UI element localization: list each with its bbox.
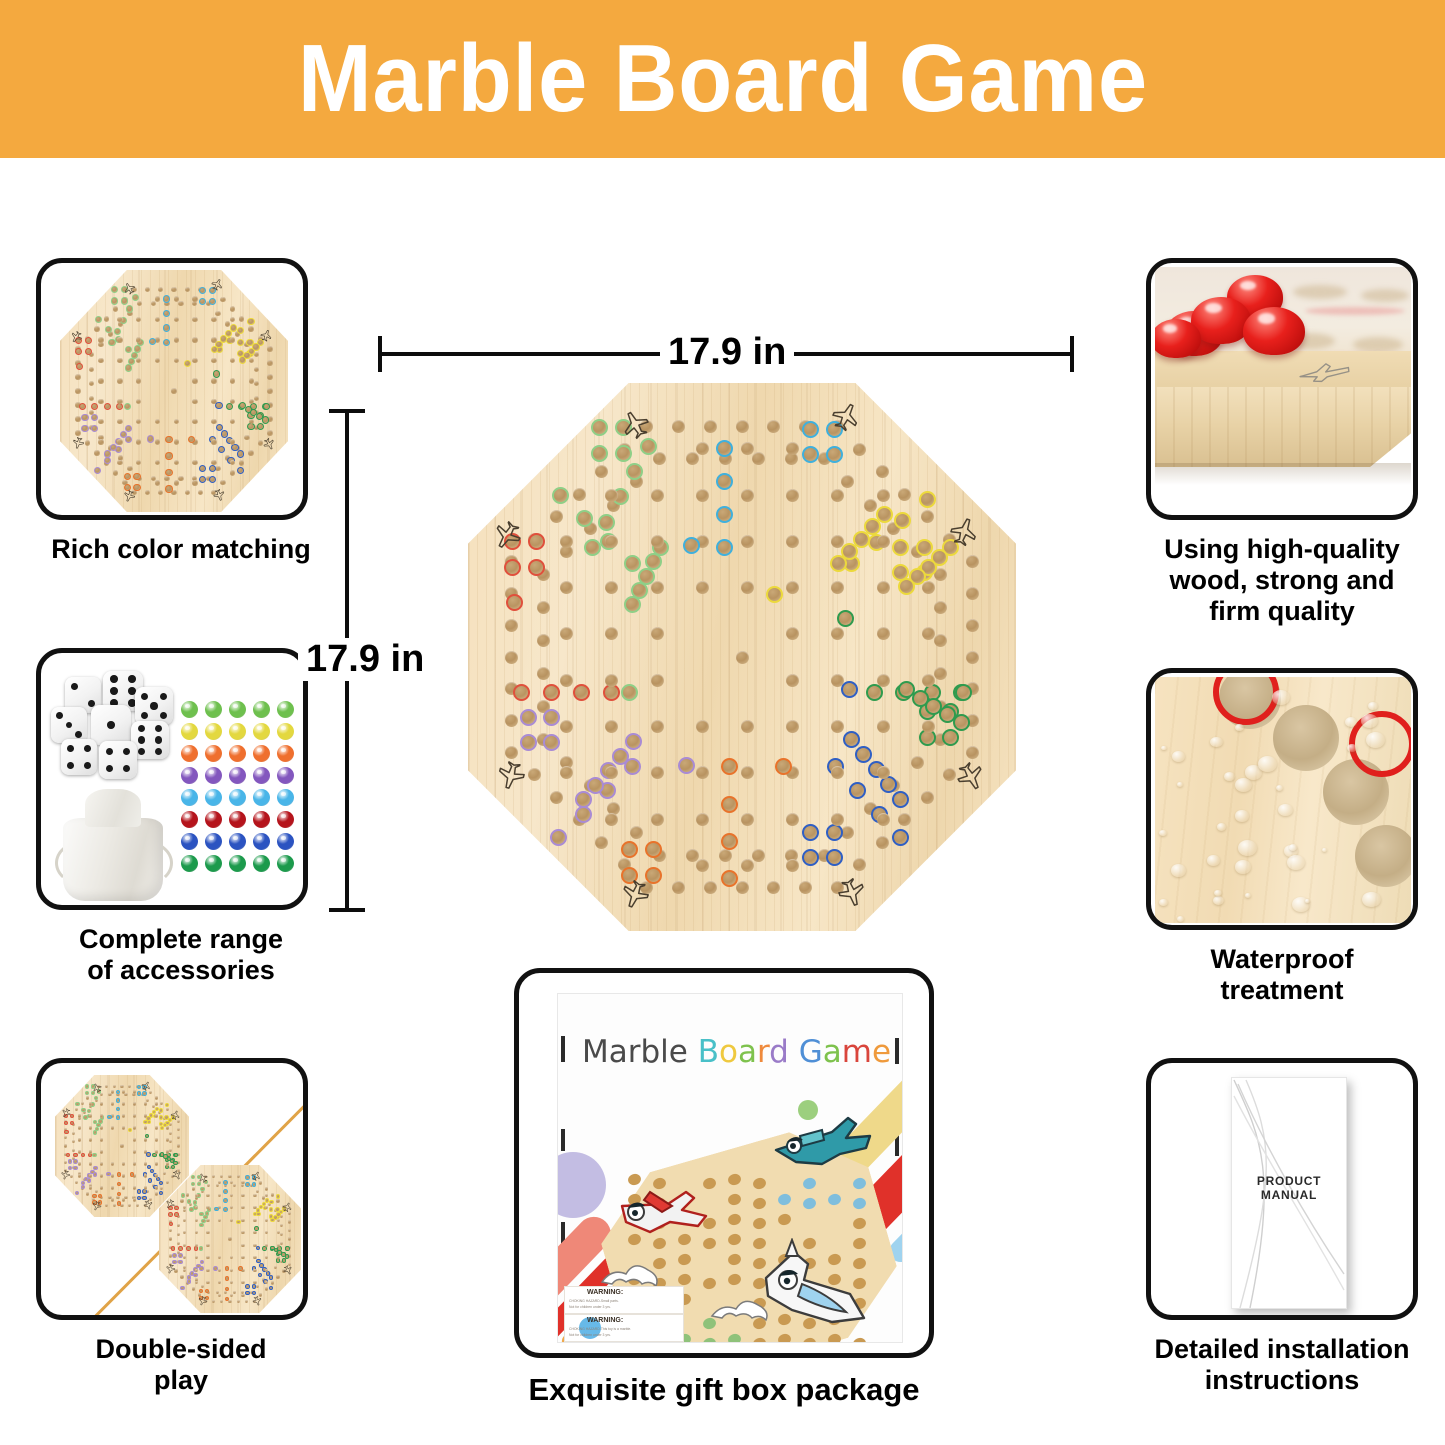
octagon-board-icon-back — [159, 1165, 301, 1313]
board-hole — [155, 419, 160, 424]
board-hole — [605, 535, 618, 548]
board-pit — [1355, 825, 1411, 887]
board-hole — [117, 317, 122, 322]
board-hole — [605, 813, 618, 826]
board-hole — [605, 581, 618, 594]
board-hole — [75, 416, 80, 421]
board-hole — [651, 535, 664, 548]
board-hole — [280, 1242, 283, 1245]
board-hole — [174, 480, 179, 485]
board-marble-hole-orange — [130, 1172, 134, 1176]
board-hole — [218, 1256, 221, 1259]
board-marble-hole-blue — [218, 446, 225, 453]
board-marble-hole-cyan — [107, 1115, 111, 1119]
board-hole — [898, 813, 911, 826]
board-hole — [224, 1291, 227, 1294]
airplane-icon — [261, 436, 278, 453]
water-droplets-icon — [1155, 677, 1411, 923]
board-marble-hole-blue — [841, 681, 858, 698]
board-hole — [207, 1184, 210, 1187]
marble — [181, 789, 198, 806]
board-hole — [113, 1204, 116, 1207]
marble — [229, 767, 246, 784]
board-hole — [177, 1128, 180, 1131]
board-hole — [831, 581, 844, 594]
board-hole — [133, 1150, 136, 1153]
airplane-icon — [283, 1265, 297, 1279]
board-hole — [133, 1102, 136, 1105]
board-marble-hole-light_green — [114, 328, 121, 335]
board-hole — [736, 651, 749, 664]
board-hole — [206, 1256, 209, 1259]
board-hole — [166, 1181, 169, 1184]
board-hole — [241, 1231, 244, 1234]
board-hole — [876, 836, 889, 849]
board-marble-hole-cyan — [223, 1198, 228, 1203]
board-hole — [212, 1300, 215, 1303]
board-hole — [595, 836, 608, 849]
board-hole — [89, 1186, 92, 1189]
board-hole — [267, 346, 272, 351]
feature-card-gift-box: Marble Board Game — [514, 968, 934, 1438]
board-hole — [922, 720, 935, 733]
board-hole — [233, 1291, 236, 1294]
board-hole — [94, 450, 99, 455]
board-marble-hole-yellow — [159, 1108, 163, 1112]
board-hole — [89, 1138, 92, 1141]
feature-card-double-sided: Double-sided play — [36, 1058, 326, 1438]
marble — [181, 811, 198, 828]
board-hole — [100, 1093, 103, 1096]
board-marble-hole-red — [76, 363, 83, 370]
board-marble-hole-cyan — [252, 1182, 257, 1187]
die-pip — [123, 748, 130, 755]
marble — [277, 833, 294, 850]
board-hole — [876, 465, 889, 478]
board-hole — [922, 674, 935, 687]
box-hinge-4 — [895, 1038, 899, 1064]
board-hole — [120, 1144, 123, 1147]
board-hole — [719, 849, 732, 862]
board-hole — [741, 489, 754, 502]
board-hole — [767, 420, 780, 433]
water-droplet — [1159, 899, 1168, 906]
board-hole — [241, 1194, 244, 1197]
board-marble-hole-dark_green — [285, 1246, 290, 1251]
wood-caption-line1: Using high-quality — [1146, 534, 1418, 565]
board-hole — [218, 1294, 221, 1297]
board-marble-hole-blue — [252, 1291, 257, 1296]
board-hole — [228, 1175, 231, 1178]
board-hole — [253, 1281, 256, 1284]
board-hole — [192, 1187, 195, 1190]
board-pit — [1273, 705, 1339, 771]
board-marble-hole-cyan — [116, 1090, 120, 1094]
board-marble-hole-orange — [165, 436, 172, 443]
board-hole — [228, 1237, 231, 1240]
board-hole — [122, 1090, 125, 1093]
board-marble-hole-cyan — [209, 298, 216, 305]
board-hole — [230, 460, 235, 465]
board-marble-hole-dark_green — [152, 1153, 156, 1157]
board-hole — [528, 768, 541, 781]
marble — [229, 701, 246, 718]
board-marble-hole-purple — [543, 709, 560, 726]
board-marble-hole-yellow — [898, 578, 915, 595]
board-hole — [136, 1204, 139, 1207]
board-marble-hole-blue — [269, 1275, 274, 1280]
dice-cluster — [47, 671, 175, 787]
board-hole — [741, 581, 754, 594]
board-hole — [111, 1090, 114, 1093]
board-marble-hole-dark_green — [262, 416, 269, 423]
airplane-icon — [252, 1296, 265, 1309]
board-hole — [230, 358, 235, 363]
board-hole — [195, 1281, 198, 1284]
marble — [229, 811, 246, 828]
board-hole — [651, 720, 664, 733]
board-marble-hole-orange — [133, 473, 140, 480]
board-marble-hole-cyan — [716, 506, 733, 523]
board-marble-hole-orange — [165, 469, 172, 476]
board-marble-hole-dark_green — [213, 370, 220, 377]
board-marble-hole-orange — [721, 758, 738, 775]
board-marble-hole-cyan — [149, 338, 156, 345]
rich-color-matching-image-frame — [36, 258, 308, 520]
board-hole — [195, 1194, 198, 1197]
board-marble-hole-blue — [892, 829, 909, 846]
board-hole — [89, 1126, 92, 1129]
board-hole — [100, 1114, 103, 1117]
board-hole — [160, 1102, 163, 1105]
board-marble-hole-purple — [543, 734, 560, 751]
board-marble-hole-purple — [104, 457, 111, 464]
board-hole — [288, 1220, 291, 1223]
board-hole — [75, 1181, 78, 1184]
board-hole — [505, 714, 518, 727]
board-hole — [169, 1132, 172, 1135]
board-marble-hole-dark_green — [837, 610, 854, 627]
board-marble-hole-blue — [826, 849, 843, 866]
board-hole — [211, 317, 216, 322]
board-hole — [265, 1194, 268, 1197]
board-hole — [85, 440, 90, 445]
board-hole — [104, 316, 109, 321]
board-hole — [274, 1266, 277, 1269]
board-hole — [117, 399, 122, 404]
board-marble-hole-blue — [843, 731, 860, 748]
box-hinge-2 — [561, 1129, 565, 1151]
board-marble-hole-purple — [575, 806, 592, 823]
board-hole — [144, 1126, 147, 1129]
board-marble-hole-red — [81, 1153, 85, 1157]
marble — [253, 833, 270, 850]
board-marble-hole-purple — [75, 1191, 79, 1195]
board-marble-hole-red — [504, 559, 521, 576]
airplane-icon — [950, 757, 991, 798]
board-hole — [206, 1231, 209, 1234]
board-hole — [253, 1269, 256, 1272]
board-hole — [64, 1136, 67, 1139]
board-hole — [100, 1150, 103, 1153]
marble — [253, 767, 270, 784]
board-hole — [206, 1281, 209, 1284]
board-hole — [831, 627, 844, 640]
board-marble-hole-purple — [147, 435, 154, 442]
board-hole — [133, 1114, 136, 1117]
board-hole — [174, 317, 179, 322]
board-hole — [75, 1108, 78, 1111]
board-hole — [86, 1192, 89, 1195]
board-hole — [271, 1193, 274, 1196]
pouch-neck — [85, 789, 141, 827]
board-marble-hole-light_green — [93, 1130, 97, 1134]
board-hole — [253, 1231, 256, 1234]
board-marble-hole-dark_green — [254, 1226, 259, 1231]
board-hole — [206, 1219, 209, 1222]
marble — [277, 855, 294, 872]
board-marble-hole-red — [73, 1153, 77, 1157]
board-hole — [155, 1114, 158, 1117]
accessories-image-frame — [36, 648, 308, 910]
board-marble-hole-red — [186, 1246, 191, 1251]
marble — [205, 745, 222, 762]
board-marble-hole-light_green — [621, 684, 638, 701]
board-hole — [133, 1126, 136, 1129]
board-hole — [276, 1199, 279, 1202]
board-hole — [133, 1138, 136, 1141]
board-hole — [831, 813, 844, 826]
double-sided-caption-line2: play — [36, 1365, 326, 1396]
board-marble-hole-purple — [187, 1279, 192, 1284]
board-hole — [241, 1244, 244, 1247]
board-hole — [192, 419, 197, 424]
board-hole — [605, 489, 618, 502]
board-marble-hole-light_green — [108, 339, 115, 346]
board-hole — [237, 1300, 240, 1303]
marble — [181, 833, 198, 850]
marble — [181, 745, 198, 762]
die-pip — [128, 675, 136, 683]
board-marble-hole-dark_green — [955, 684, 972, 701]
board-marble-hole-light_green — [124, 403, 131, 410]
board-marble-hole-yellow — [184, 360, 191, 367]
double-sided-image-frame — [36, 1058, 308, 1320]
marble — [205, 811, 222, 828]
board-marble-hole-cyan — [116, 1098, 120, 1102]
warning-label-1-line1: CHOKING HAZARD-Small parts. — [569, 1299, 619, 1303]
board-hole — [211, 378, 216, 383]
board-marble-hole-light_green — [95, 316, 102, 323]
board-hole — [786, 859, 799, 872]
board-hole — [233, 1184, 236, 1187]
marble — [205, 767, 222, 784]
board-hole — [78, 1138, 81, 1141]
board-hole — [78, 1150, 81, 1153]
water-droplet — [1322, 848, 1327, 852]
board-marble-hole-blue — [269, 1286, 274, 1291]
board-hole — [155, 296, 160, 301]
board-marble-hole-red — [116, 403, 123, 410]
board-marble-hole-purple — [125, 425, 132, 432]
board-marble-hole-orange — [165, 485, 172, 492]
board-marble-hole-light_green — [552, 487, 569, 504]
board-hole — [605, 720, 618, 733]
manual-caption-line1: Detailed installation — [1146, 1334, 1418, 1365]
board-marble-hole-red — [66, 1153, 70, 1157]
die-pip — [56, 712, 63, 719]
board-hole — [144, 1138, 147, 1141]
water-droplet — [1278, 804, 1293, 816]
die-pip — [66, 722, 73, 729]
board-hole — [831, 489, 844, 502]
board-hole — [145, 287, 150, 292]
board-hole — [218, 1194, 221, 1197]
board-hole — [100, 1126, 103, 1129]
board-marble-hole-blue — [159, 1181, 163, 1185]
water-droplet — [1287, 855, 1305, 870]
board-hole — [230, 337, 235, 342]
board-hole — [241, 1181, 244, 1184]
die-pip — [75, 731, 82, 738]
board-hole — [241, 1281, 244, 1284]
marble-grid — [181, 701, 303, 881]
board-hole — [254, 381, 259, 386]
board-marble-hole-cyan — [116, 1107, 120, 1111]
board-hole — [230, 378, 235, 383]
board-marble-hole-dark_green — [285, 1254, 290, 1259]
board-hole — [218, 1269, 221, 1272]
die-pip — [155, 736, 162, 743]
board-hole — [113, 470, 118, 475]
board-hole — [230, 317, 235, 322]
marble — [205, 723, 222, 740]
board-hole — [265, 1219, 268, 1222]
board-hole — [651, 813, 664, 826]
board-marble-hole-purple — [520, 709, 537, 726]
board-hole — [166, 1162, 169, 1165]
board-hole — [111, 1102, 114, 1105]
board-hole — [696, 489, 709, 502]
waterproof-image-frame — [1146, 668, 1418, 930]
marble — [277, 745, 294, 762]
water-droplet — [1171, 864, 1186, 876]
board-marble-hole-orange — [124, 473, 131, 480]
board-marble-hole-light_green — [81, 1108, 85, 1112]
height-dim-label: 17.9 in — [298, 638, 432, 681]
board-hole — [144, 1162, 147, 1165]
die — [135, 687, 173, 725]
board-marble-hole-yellow — [830, 555, 847, 572]
board-marble-hole-purple — [550, 829, 567, 846]
board-hole — [111, 1174, 114, 1177]
board-hole — [686, 452, 699, 465]
feature-card-waterproof: Waterproof treatment — [1146, 668, 1418, 1028]
board-marble-hole-cyan — [199, 298, 206, 305]
board-hole — [166, 1138, 169, 1141]
board-marble-hole-yellow — [269, 1207, 274, 1212]
die-pip — [106, 748, 113, 755]
water-droplet — [1258, 756, 1277, 772]
water-droplet — [1159, 830, 1167, 836]
board-hole — [651, 766, 664, 779]
board-hole — [741, 720, 754, 733]
board-hole — [111, 1198, 114, 1201]
board-marble-hole-orange — [225, 1276, 230, 1281]
board-hole — [966, 587, 979, 600]
board-marble-hole-dark_green — [171, 1165, 175, 1169]
airplane-teal-icon — [766, 1106, 878, 1176]
board-marble-hole-yellow — [894, 512, 911, 529]
board-hole — [89, 1102, 92, 1105]
board-marble-hole-purple — [178, 1260, 183, 1265]
marble — [253, 811, 270, 828]
die-pip — [150, 702, 157, 709]
board-hole — [155, 1102, 158, 1105]
board-hole — [155, 1096, 158, 1099]
board-hole — [696, 813, 709, 826]
board-hole — [853, 443, 866, 456]
board-marble-hole-light_green — [591, 445, 608, 462]
board-hole — [256, 1285, 259, 1288]
board-marble-hole-yellow — [247, 318, 254, 325]
airplane-icon — [68, 329, 85, 346]
board-marble-hole-yellow — [766, 586, 783, 603]
board-hole — [672, 881, 685, 894]
water-droplet — [1210, 737, 1223, 748]
board-hole — [560, 720, 573, 733]
board-marble-hole-red — [64, 1130, 68, 1134]
board-hole — [174, 337, 179, 342]
die-pip — [110, 675, 118, 683]
airplane-white-icon — [758, 1238, 898, 1343]
board-hole — [560, 674, 573, 687]
marble — [253, 855, 270, 872]
board-hole — [853, 858, 866, 871]
board-marble-hole-orange — [133, 484, 140, 491]
board-hole — [505, 651, 518, 664]
board-marble-hole-dark_green — [953, 714, 970, 731]
board-hole — [136, 337, 141, 342]
board-marble-hole-cyan — [223, 1180, 228, 1185]
board-hole — [288, 1229, 291, 1232]
board-hole — [169, 1229, 172, 1232]
warning-label-2: WARNING: CHOKING HAZARD-This toy is a ma… — [564, 1314, 684, 1342]
board-hole — [550, 510, 563, 523]
board-hole — [265, 1231, 268, 1234]
board-hole — [133, 1186, 136, 1189]
board-hole — [72, 1132, 75, 1135]
board-hole — [117, 460, 122, 465]
board-hole — [239, 460, 244, 465]
water-droplet — [1235, 860, 1251, 873]
board-hole — [111, 1162, 114, 1165]
waterproof-caption: Waterproof treatment — [1146, 944, 1418, 1006]
wood-caption-line3: firm quality — [1146, 596, 1418, 627]
board-hole — [228, 1300, 231, 1303]
board-hole — [78, 1162, 81, 1165]
gift-box-icon: Marble Board Game — [557, 993, 903, 1343]
board-hole — [117, 439, 122, 444]
board-marble-hole-yellow — [919, 491, 936, 508]
board-hole — [741, 442, 754, 455]
board-marble-hole-blue — [137, 1196, 141, 1200]
board-hole — [72, 1149, 75, 1152]
board-marble-hole-purple — [520, 734, 537, 751]
board-marble-hole-light_green — [75, 1102, 79, 1106]
board-hole — [98, 419, 103, 424]
board-hole — [922, 627, 935, 640]
